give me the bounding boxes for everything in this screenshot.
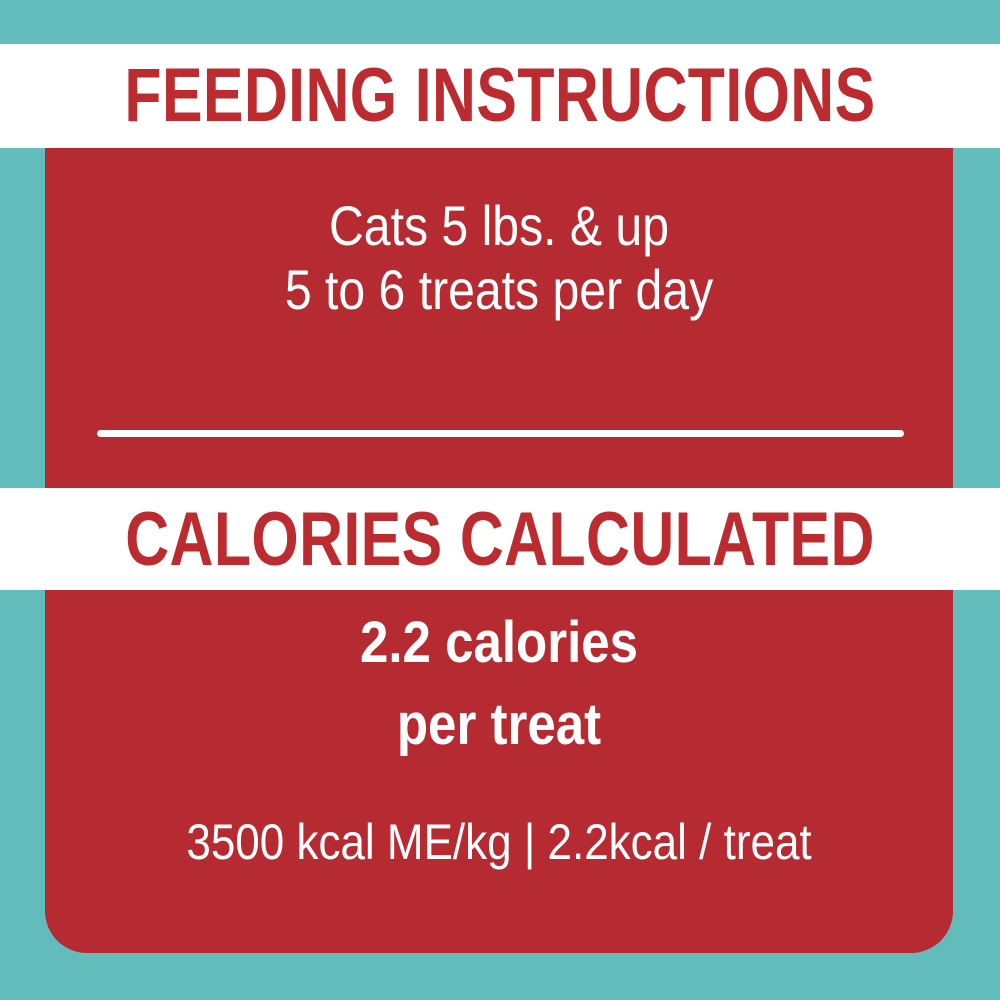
calories-calculated-heading: CALORIES CALCULATED: [100, 496, 900, 584]
calories-unit-line: per treat: [99, 691, 898, 759]
pet-treat-label-card: FEEDING INSTRUCTIONS Cats 5 lbs. & up 5 …: [0, 0, 1000, 1000]
calories-value-line: 2.2 calories: [99, 609, 898, 677]
section-divider-rule: [97, 430, 904, 437]
kcal-detail-line: 3500 kcal ME/kg | 2.2kcal / treat: [99, 812, 898, 872]
feeding-amount-line: 5 to 6 treats per day: [109, 258, 890, 322]
feeding-weight-line: Cats 5 lbs. & up: [109, 194, 890, 258]
teal-band-top: [0, 0, 1000, 44]
feeding-instructions-heading: FEEDING INSTRUCTIONS: [100, 52, 900, 140]
